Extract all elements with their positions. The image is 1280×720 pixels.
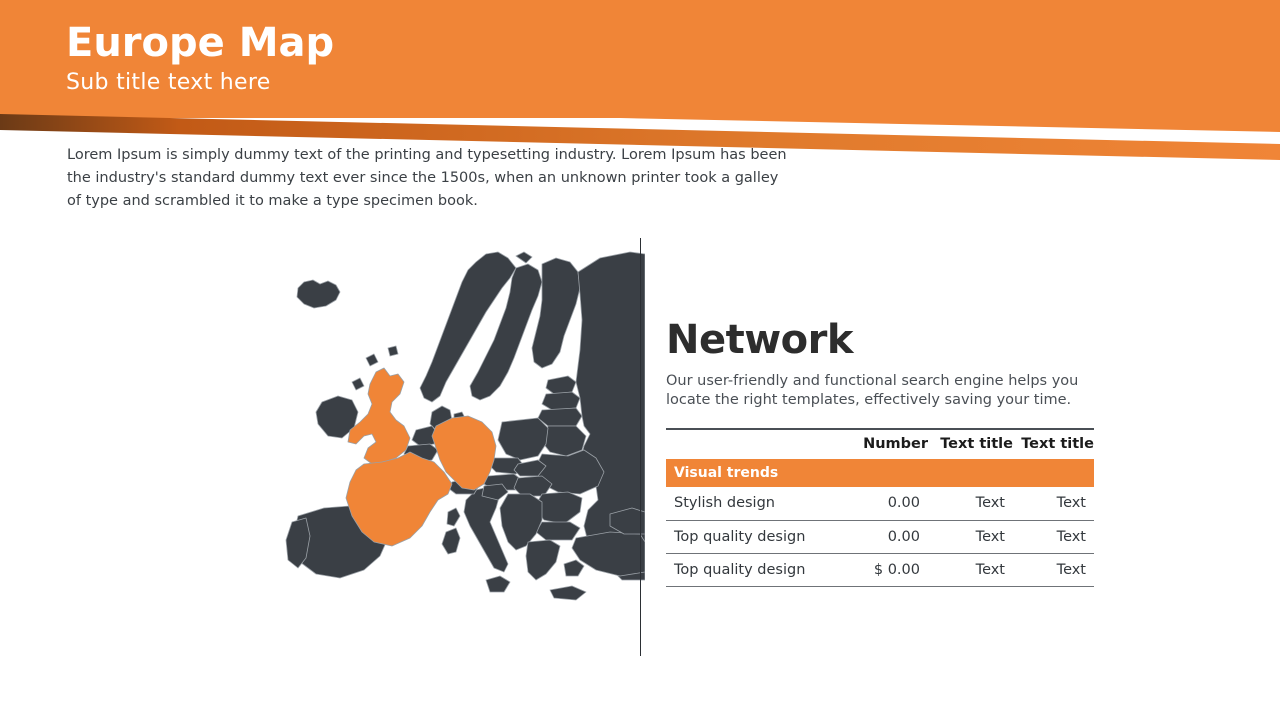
page-subtitle: Sub title text here (66, 68, 334, 98)
country-far-north-islands (516, 252, 532, 263)
col-header-text2: Text title (1013, 429, 1094, 459)
col-header-number: Number (838, 429, 928, 459)
row-number: 0.00 (838, 487, 928, 520)
island-sardinia (442, 528, 460, 554)
row-label: Top quality design (666, 520, 838, 553)
row-number: $ 0.00 (838, 553, 928, 586)
country-iceland[interactable] (297, 280, 340, 308)
table-group-label: Visual trends (666, 459, 1094, 487)
row-text1: Text (928, 520, 1013, 553)
country-poland[interactable] (498, 418, 548, 460)
table-group-row: Visual trends (666, 459, 1094, 487)
country-latvia[interactable] (542, 392, 580, 410)
table-row[interactable]: Top quality design 0.00 Text Text (666, 520, 1094, 553)
lead-paragraph: Lorem Ipsum is simply dummy text of the … (67, 144, 792, 213)
panel-description: Our user-friendly and functional search … (666, 372, 1086, 410)
row-number: 0.00 (838, 520, 928, 553)
col-header-text1: Text title (928, 429, 1013, 459)
island-corsica (447, 508, 460, 526)
table-header-row: Number Text title Text title (666, 429, 1094, 459)
row-text2: Text (1013, 520, 1094, 553)
table-row[interactable]: Stylish design 0.00 Text Text (666, 487, 1094, 520)
row-label: Top quality design (666, 553, 838, 586)
panel-title: Network (666, 316, 1094, 364)
row-text2: Text (1013, 553, 1094, 586)
country-estonia[interactable] (546, 376, 576, 394)
europe-map-svg[interactable] (280, 250, 645, 660)
metrics-table: Number Text title Text title Visual tren… (666, 428, 1094, 587)
row-text2: Text (1013, 487, 1094, 520)
country-france-highlight[interactable] (346, 452, 452, 546)
header-text-block: Europe Map Sub title text here (66, 18, 334, 98)
country-bulgaria[interactable] (536, 522, 580, 540)
page-header: Europe Map Sub title text here (0, 0, 1280, 160)
col-header-label (666, 429, 838, 459)
row-text1: Text (928, 553, 1013, 586)
country-hungary[interactable] (514, 476, 552, 496)
page-title: Europe Map (66, 18, 334, 68)
country-lithuania[interactable] (538, 408, 582, 426)
table-row[interactable]: Top quality design $ 0.00 Text Text (666, 553, 1094, 586)
row-label: Stylish design (666, 487, 838, 520)
network-panel: Network Our user-friendly and functional… (666, 316, 1094, 587)
row-text1: Text (928, 487, 1013, 520)
vertical-divider (640, 238, 641, 656)
europe-map[interactable] (280, 250, 645, 660)
country-turkey[interactable] (572, 532, 645, 576)
